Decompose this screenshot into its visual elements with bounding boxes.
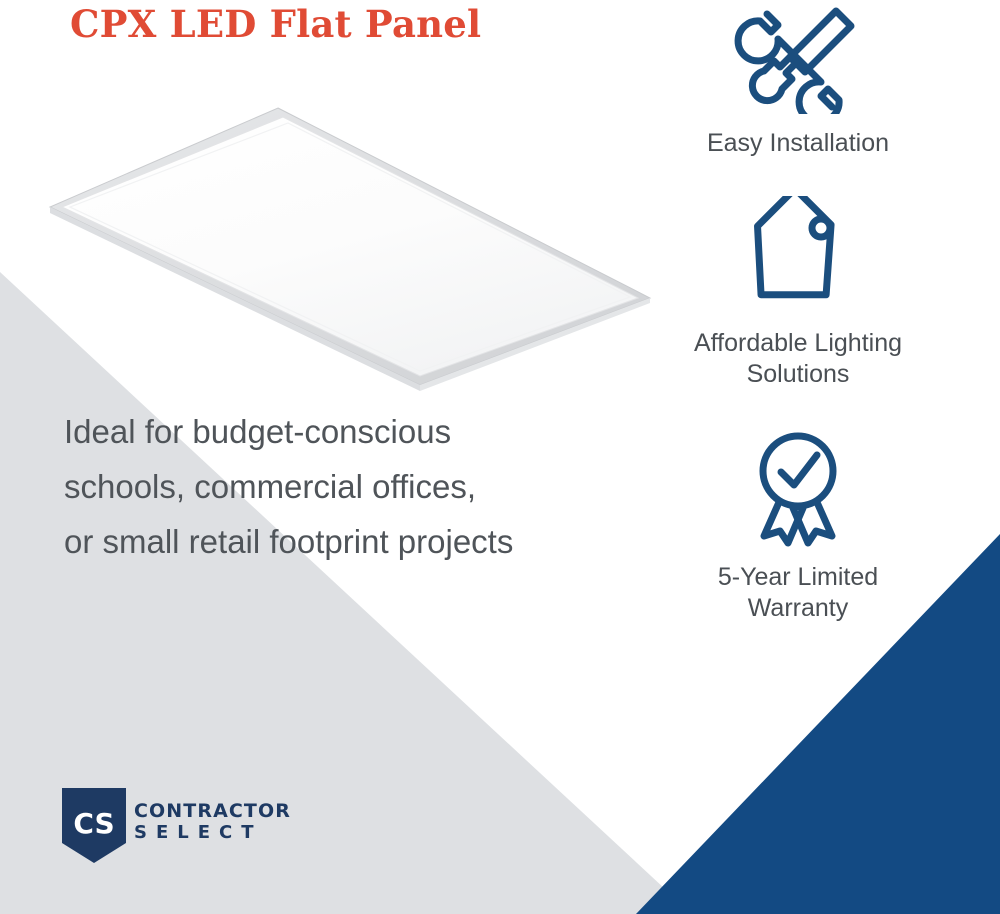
product-marketing-image: CPX LED Flat Panel Ideal for budget-cons…	[0, 0, 1000, 914]
wrench-screwdriver-icon	[648, 2, 948, 114]
feature-easy-installation-label: Easy Installation	[648, 128, 948, 159]
tagline-line-3: or small retail footprint projects	[64, 514, 624, 569]
feature-warranty: 5-Year Limited Warranty	[648, 426, 948, 624]
product-image	[40, 95, 680, 395]
feature-warranty-label: 5-Year Limited Warranty	[648, 562, 948, 624]
feature-label-line: Affordable Lighting	[648, 328, 948, 359]
page-title: CPX LED Flat Panel	[70, 2, 481, 46]
feature-affordable-lighting: Affordable Lighting Solutions	[648, 196, 948, 390]
feature-label-line: Easy Installation	[648, 128, 948, 159]
logo-word-select: SELECT	[134, 822, 291, 844]
award-ribbon-check-icon	[648, 426, 948, 548]
tagline: Ideal for budget-conscious schools, comm…	[64, 404, 624, 569]
feature-label-line: Warranty	[648, 593, 948, 624]
feature-easy-installation: Easy Installation	[648, 2, 948, 159]
tagline-line-2: schools, commercial offices,	[64, 459, 624, 514]
logo-word-contractor: CONTRACTOR	[134, 800, 291, 822]
feature-label-line: Solutions	[648, 359, 948, 390]
shield-badge-icon: CS	[62, 788, 126, 863]
feature-label-line: 5-Year Limited	[648, 562, 948, 593]
logo-wordmark: CONTRACTOR SELECT	[134, 800, 291, 844]
price-tag-icon	[648, 196, 948, 314]
tagline-line-1: Ideal for budget-conscious	[64, 404, 624, 459]
logo-monogram: CS	[73, 807, 114, 840]
contractor-select-logo: CS CONTRACTOR SELECT	[62, 788, 272, 863]
feature-affordable-lighting-label: Affordable Lighting Solutions	[648, 328, 948, 390]
